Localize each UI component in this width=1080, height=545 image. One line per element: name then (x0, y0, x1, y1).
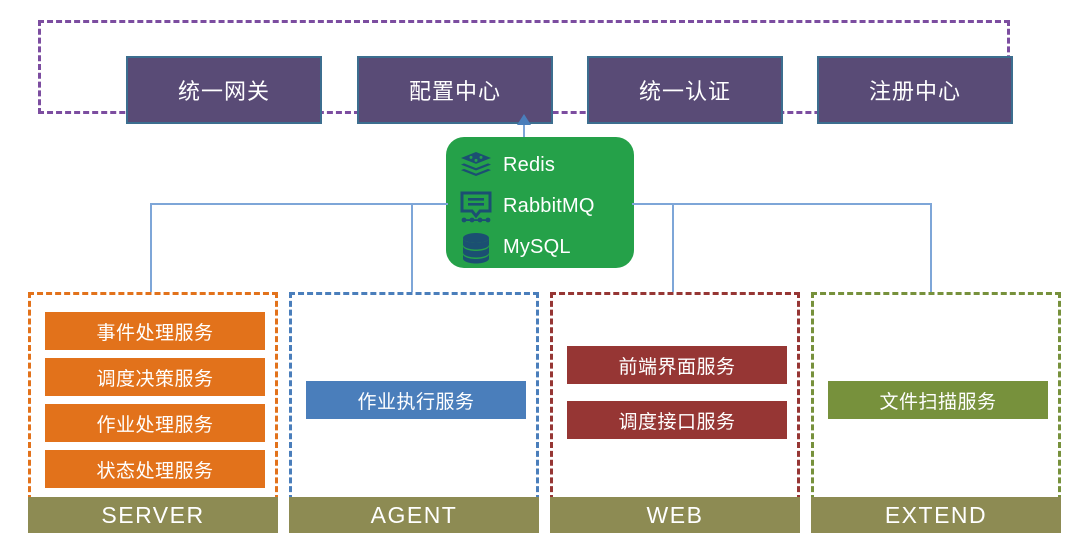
connector-bus-right (632, 203, 930, 205)
rabbitmq-message-icon (458, 190, 494, 224)
platform-box-label: 统一网关 (178, 74, 270, 106)
connector-bus-left (150, 203, 448, 205)
connector-drop-server (150, 203, 152, 292)
column-label-server: SERVER (28, 497, 278, 533)
column-label-text: SERVER (101, 502, 204, 529)
service-box[interactable]: 文件扫描服务 (828, 381, 1048, 419)
service-label: 调度决策服务 (96, 364, 213, 391)
platform-group: 统一网关 配置中心 统一认证 注册中心 (38, 20, 1010, 114)
middleware-item-mysql[interactable]: MySQL (458, 228, 634, 267)
column-label-extend: EXTEND (811, 497, 1061, 533)
arrow-up-icon (517, 114, 531, 125)
mysql-database-icon (458, 231, 494, 265)
column-label-text: WEB (647, 502, 704, 529)
platform-box-label: 注册中心 (869, 74, 961, 106)
service-label: 事件处理服务 (96, 318, 213, 345)
column-label-text: EXTEND (885, 502, 987, 529)
platform-box-auth[interactable]: 统一认证 (587, 56, 783, 124)
service-label: 前端界面服务 (618, 352, 735, 379)
middleware-item-label: MySQL (503, 236, 571, 259)
service-label: 作业执行服务 (357, 387, 474, 414)
service-box[interactable]: 前端界面服务 (567, 346, 787, 384)
connector-drop-agent (411, 203, 413, 292)
platform-box-label: 配置中心 (409, 74, 501, 106)
service-box[interactable]: 作业执行服务 (306, 381, 526, 419)
middleware-item-redis[interactable]: Redis (458, 146, 634, 185)
service-label: 状态处理服务 (96, 456, 213, 483)
service-box[interactable]: 事件处理服务 (45, 312, 265, 350)
middleware-item-label: Redis (503, 154, 555, 177)
column-agent: 作业执行服务 (289, 292, 539, 501)
column-web: 前端界面服务 调度接口服务 (550, 292, 800, 501)
platform-box-gateway[interactable]: 统一网关 (126, 56, 322, 124)
redis-layers-icon (458, 149, 494, 183)
column-label-web: WEB (550, 497, 800, 533)
service-box[interactable]: 调度接口服务 (567, 401, 787, 439)
service-label: 作业处理服务 (96, 410, 213, 437)
connector-drop-web (672, 203, 674, 292)
column-label-text: AGENT (371, 502, 458, 529)
column-label-agent: AGENT (289, 497, 539, 533)
middleware-item-label: RabbitMQ (503, 195, 595, 218)
architecture-diagram: 统一网关 配置中心 统一认证 注册中心 (0, 0, 1080, 545)
platform-box-registry[interactable]: 注册中心 (817, 56, 1013, 124)
service-box[interactable]: 状态处理服务 (45, 450, 265, 488)
middleware-group: Redis RabbitMQ (446, 137, 634, 268)
service-box[interactable]: 作业处理服务 (45, 404, 265, 442)
service-label: 文件扫描服务 (879, 387, 996, 414)
platform-box-label: 统一认证 (639, 74, 731, 106)
middleware-item-rabbitmq[interactable]: RabbitMQ (458, 187, 634, 226)
column-server: 事件处理服务 调度决策服务 作业处理服务 状态处理服务 (28, 292, 278, 501)
service-label: 调度接口服务 (618, 407, 735, 434)
column-extend: 文件扫描服务 (811, 292, 1061, 501)
service-box[interactable]: 调度决策服务 (45, 358, 265, 396)
connector-drop-extend (930, 203, 932, 292)
